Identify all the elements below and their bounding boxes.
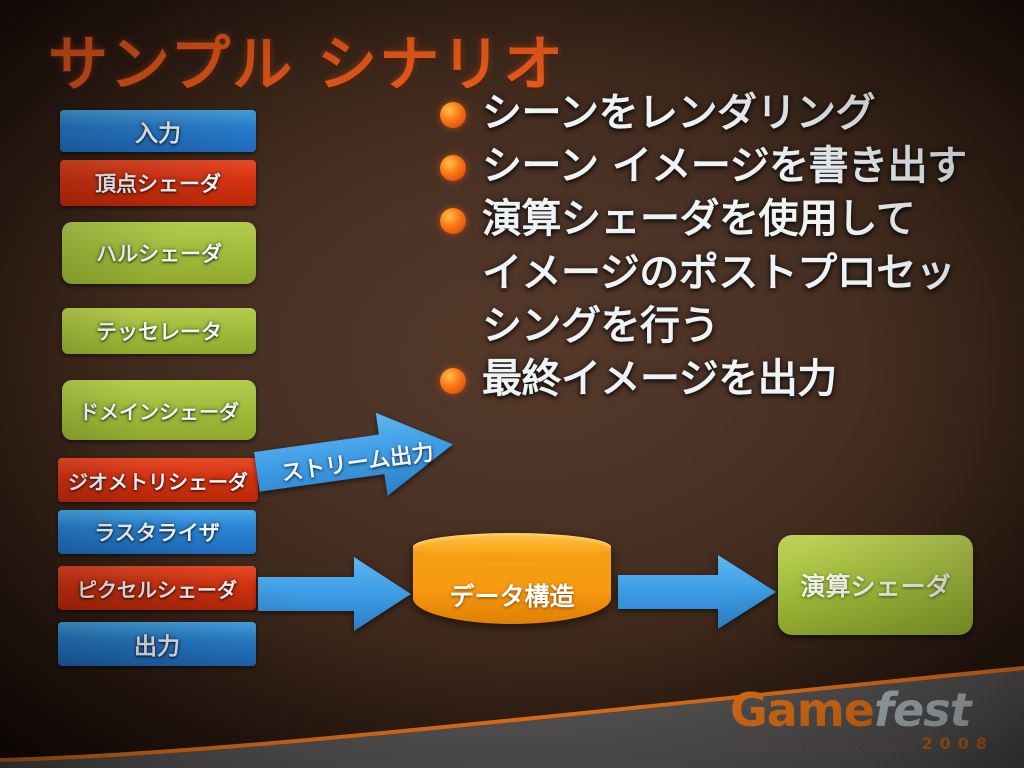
bullet-dot-icon xyxy=(440,208,466,234)
pipeline-stage-label: 出力 xyxy=(134,627,180,661)
pipeline-stage-5: ジオメトリシェーダ xyxy=(58,458,258,502)
bullet-list: シーンをレンダリングシーン イメージを書き出す演算シェーダを使用してイメージのポ… xyxy=(440,88,1020,407)
pipeline-stage-label: テッセレータ xyxy=(96,316,222,346)
bullet-item: シーン イメージを書き出す xyxy=(440,141,1020,192)
bullet-dot-icon xyxy=(440,155,466,181)
bullet-text: イメージのポストプロセッ xyxy=(482,248,955,299)
pipeline-stage-4: ドメインシェーダ xyxy=(62,380,256,440)
pipeline-stage-label: ハルシェーダ xyxy=(96,238,222,268)
arrow-to-data-structure xyxy=(258,553,413,635)
bullet-text: シングを行う xyxy=(482,301,719,352)
data-structure-label: データ構造 xyxy=(413,577,611,613)
pipeline-stage-label: ドメインシェーダ xyxy=(79,396,239,425)
bullet-text: シーンをレンダリング xyxy=(482,88,875,139)
arrow-svg xyxy=(258,553,413,635)
pipeline-stage-2: ハルシェーダ xyxy=(62,222,256,284)
pipeline-stage-label: 頂点シェーダ xyxy=(95,168,221,198)
logo-wordmark: Gamefest xyxy=(730,687,994,733)
pipeline-stage-0: 入力 xyxy=(60,110,256,152)
bullet-item: 演算シェーダを使用して xyxy=(440,194,1020,245)
compute-shader-label: 演算シェーダ xyxy=(800,567,950,603)
bullet-text: シーン イメージを書き出す xyxy=(482,141,967,192)
arrow-to-compute-shader xyxy=(618,551,778,633)
logo-year: 2008 xyxy=(921,736,994,752)
presentation-slide: サンプル シナリオ 入力頂点シェーダハルシェーダテッセレータドメインシェーダジオ… xyxy=(0,0,1024,768)
pipeline-stage-label: ピクセルシェーダ xyxy=(77,574,237,603)
bullet-text: 最終イメージを出力 xyxy=(482,354,837,405)
logo-tagline: MICROSOFT GAME TECHNOLOGY COMMUNITY xyxy=(730,745,911,752)
pipeline-stage-7: ピクセルシェーダ xyxy=(58,566,256,610)
cylinder-top-ellipse xyxy=(413,533,611,561)
pipeline-stage-label: ラスタライザ xyxy=(94,517,220,547)
bullet-item: 最終イメージを出力 xyxy=(440,354,1020,405)
bullet-item: イメージのポストプロセッ xyxy=(440,248,1020,299)
pipeline-stage-label: 入力 xyxy=(135,114,181,148)
arrow-svg xyxy=(618,551,778,633)
bullet-dot-icon xyxy=(440,102,466,128)
data-structure-cylinder: データ構造 xyxy=(413,533,611,637)
bullet-dot-icon xyxy=(440,368,466,394)
pipeline-stage-label: ジオメトリシェーダ xyxy=(68,466,248,495)
compute-shader-box: 演算シェーダ xyxy=(778,535,973,635)
pipeline-stage-6: ラスタライザ xyxy=(58,510,256,554)
gamefest-logo: Gamefest MICROSOFT GAME TECHNOLOGY COMMU… xyxy=(730,687,994,752)
logo-subtitle-row: MICROSOFT GAME TECHNOLOGY COMMUNITY 2008 xyxy=(730,736,994,752)
logo-game-text: Game xyxy=(730,683,874,737)
bullet-text: 演算シェーダを使用して xyxy=(482,194,915,245)
logo-fest-text: fest xyxy=(874,683,971,737)
pipeline-stage-8: 出力 xyxy=(58,622,256,666)
bullet-item: シングを行う xyxy=(440,301,1020,352)
pipeline-stage-1: 頂点シェーダ xyxy=(60,160,256,206)
pipeline-stage-3: テッセレータ xyxy=(62,308,256,354)
bullet-item: シーンをレンダリング xyxy=(440,88,1020,139)
